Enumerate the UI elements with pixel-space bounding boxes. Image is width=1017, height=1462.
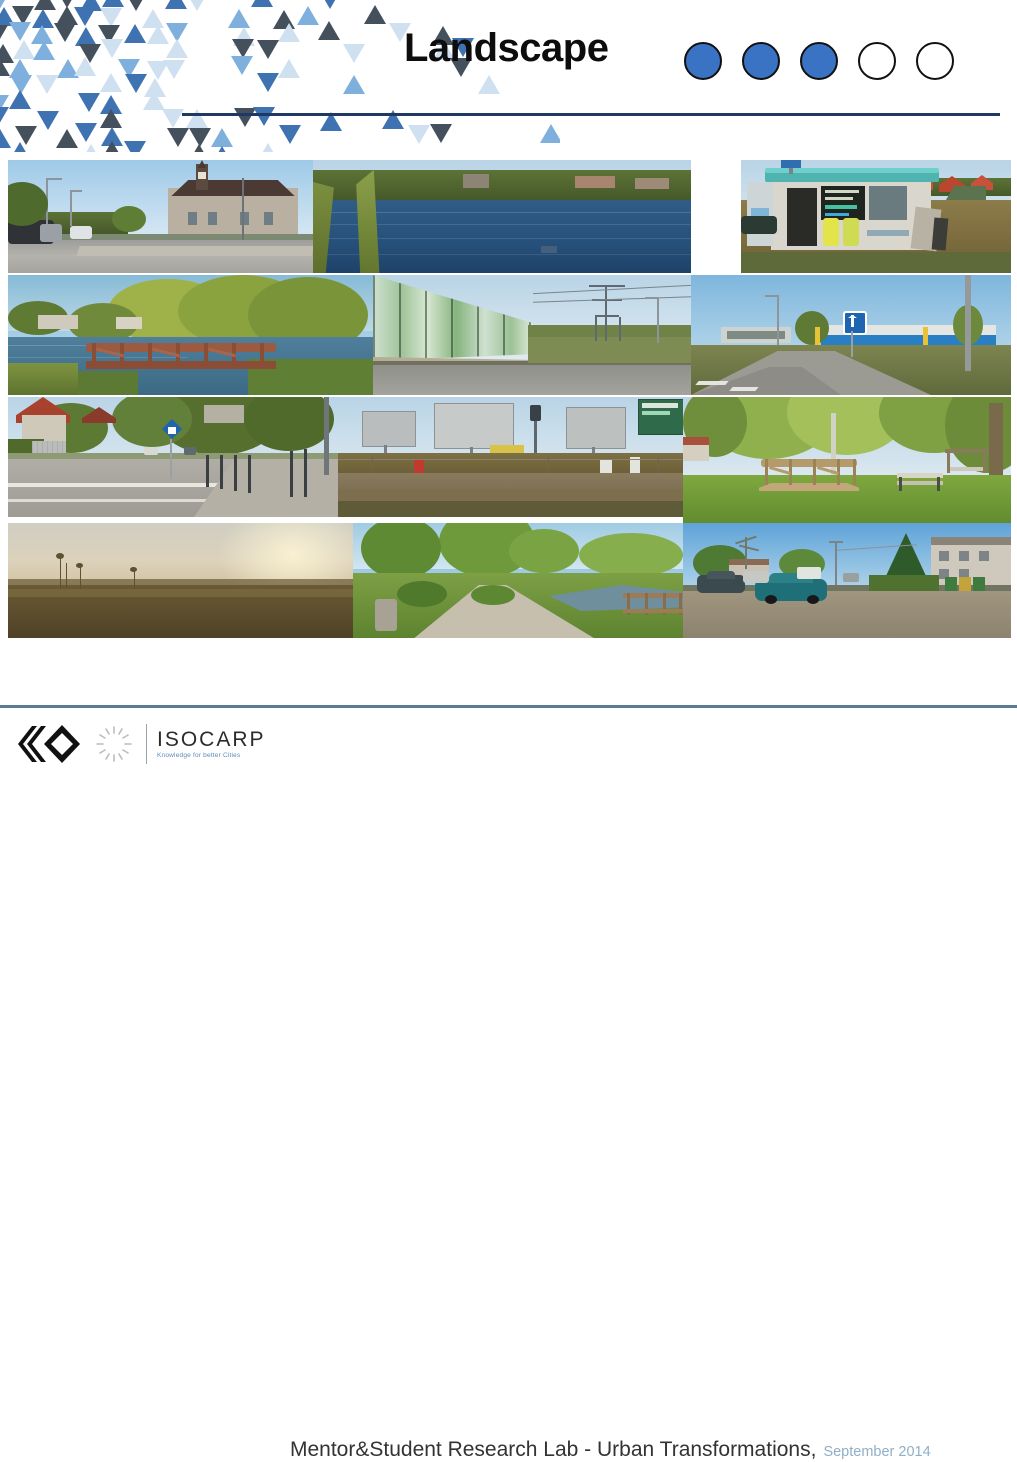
circular-seal-icon — [92, 722, 136, 766]
decorative-triangle — [211, 146, 233, 152]
footer-caption: Mentor&Student Research Lab - Urban Tran… — [290, 1438, 931, 1462]
photo-kiosk — [741, 160, 1011, 273]
photo-street-church — [8, 160, 313, 273]
decorative-triangle — [143, 91, 165, 110]
presentation-slide: Landscape — [0, 0, 1017, 769]
photo-billboards-wasteland — [338, 397, 683, 517]
decorative-triangle — [540, 124, 560, 143]
progress-dot-2 — [742, 42, 780, 80]
decorative-triangle — [101, 141, 123, 152]
photo-parking-cars — [683, 523, 1011, 638]
decorative-triangle — [74, 57, 96, 76]
decorative-triangle — [319, 0, 341, 9]
slide-header: Landscape — [0, 0, 1017, 152]
progress-dot-5 — [916, 42, 954, 80]
decorative-triangle — [54, 23, 76, 42]
photo-park-path-stream — [353, 523, 683, 638]
decorative-triangle — [257, 40, 279, 59]
decorative-triangle — [102, 0, 124, 7]
decorative-triangle — [80, 144, 102, 152]
progress-dot-4 — [858, 42, 896, 80]
decorative-triangle — [101, 39, 123, 58]
decorative-triangle — [318, 21, 340, 40]
decorative-triangle — [37, 111, 59, 130]
photo-park-bridge-benches — [683, 397, 1011, 527]
decorative-triangle — [9, 90, 31, 109]
isocarp-name: ISOCARP — [157, 729, 266, 750]
decorative-triangle — [100, 8, 122, 27]
decorative-triangle — [9, 22, 31, 41]
decorative-triangle — [124, 24, 146, 43]
decorative-triangle — [78, 93, 100, 112]
decorative-triangle — [36, 75, 58, 94]
logo-divider — [146, 724, 147, 764]
decorative-triangle — [232, 39, 254, 58]
progress-dot-1 — [684, 42, 722, 80]
slide-footer: ISOCARP Knowledge for better Cities Ment… — [0, 712, 1017, 769]
decorative-triangle — [186, 0, 208, 11]
footer-date: September 2014 — [823, 1444, 930, 1460]
decorative-triangle — [297, 6, 319, 25]
photo-mosaic — [0, 155, 1017, 645]
decorative-triangle — [74, 7, 96, 26]
decorative-triangle — [408, 125, 430, 144]
triangle-pattern-decoration — [0, 0, 560, 152]
footer-main-text: Mentor&Student Research Lab - Urban Tran… — [290, 1438, 816, 1462]
decorative-triangle — [257, 73, 279, 92]
photo-residential-street — [8, 397, 338, 517]
decorative-triangle — [343, 44, 365, 63]
chevron-diamond-icon — [10, 723, 82, 765]
decorative-triangle — [124, 141, 146, 152]
decorative-triangle — [0, 107, 9, 126]
decorative-triangle — [251, 0, 273, 7]
decorative-triangle — [257, 143, 279, 152]
decorative-triangle — [100, 73, 122, 92]
decorative-triangle — [9, 142, 31, 152]
decorative-triangle — [167, 128, 189, 147]
decorative-triangle — [228, 9, 250, 28]
decorative-triangle — [165, 0, 187, 9]
progress-indicator — [684, 42, 954, 80]
decorative-triangle — [0, 25, 8, 44]
photo-retail-road-sign — [691, 275, 1011, 395]
decorative-triangle — [100, 109, 122, 128]
decorative-triangle — [253, 107, 275, 126]
photo-pond-footbridge — [8, 275, 373, 395]
decorative-triangle — [163, 60, 185, 79]
decorative-triangle — [211, 128, 233, 147]
decorative-triangle — [75, 123, 97, 142]
footer-divider — [0, 705, 1017, 708]
photo-lake-reeds — [313, 160, 691, 273]
decorative-triangle — [279, 125, 301, 144]
decorative-triangle — [343, 75, 365, 94]
decorative-triangle — [278, 23, 300, 42]
decorative-triangle — [33, 41, 55, 60]
header-divider — [182, 113, 1000, 116]
decorative-triangle — [234, 108, 256, 127]
isocarp-wordmark: ISOCARP Knowledge for better Cities — [157, 729, 266, 760]
decorative-triangle — [231, 56, 253, 75]
decorative-triangle — [188, 144, 210, 152]
progress-dot-3 — [800, 42, 838, 80]
decorative-triangle — [166, 39, 188, 58]
decorative-triangle — [364, 5, 386, 24]
isocarp-tagline: Knowledge for better Cities — [157, 753, 266, 760]
decorative-triangle — [278, 59, 300, 78]
isocarp-logo: ISOCARP Knowledge for better Cities — [10, 722, 266, 766]
photo-noise-barrier-road — [373, 275, 691, 395]
page-title: Landscape — [404, 28, 704, 68]
photo-hazy-field — [8, 523, 353, 638]
decorative-triangle — [430, 124, 452, 143]
decorative-triangle — [478, 75, 500, 94]
